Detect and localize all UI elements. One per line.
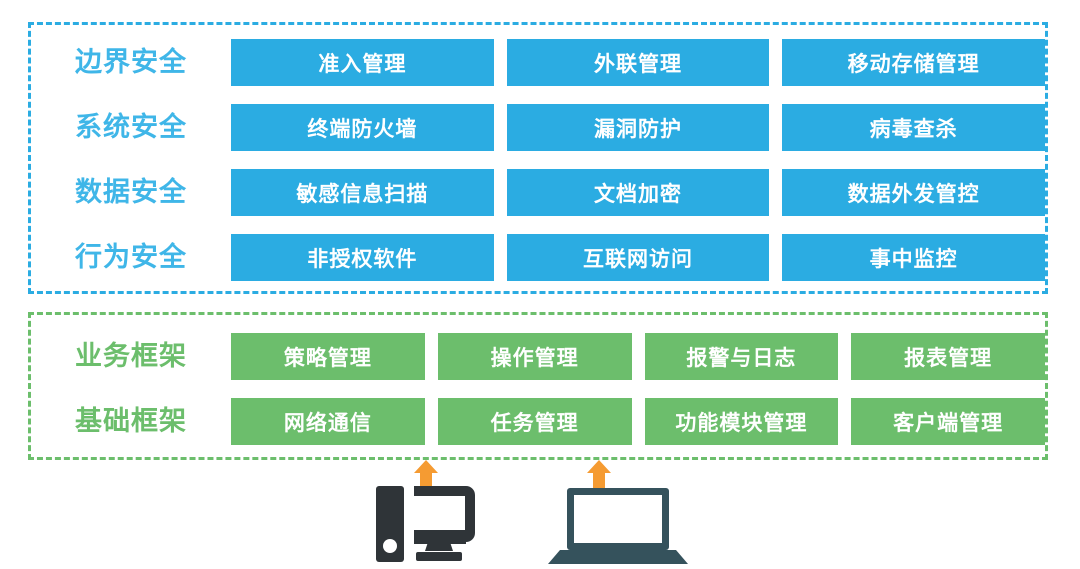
cell-unauthorized-software[interactable]: 非授权软件 bbox=[231, 234, 494, 281]
cell-removable-storage[interactable]: 移动存储管理 bbox=[782, 39, 1045, 86]
laptop-computer-icon bbox=[548, 486, 688, 564]
row-label-system-security: 系统安全 bbox=[31, 104, 231, 151]
row-cells-data-security: 敏感信息扫描 文档加密 数据外发管控 bbox=[231, 169, 1045, 216]
cell-policy-management[interactable]: 策略管理 bbox=[231, 333, 425, 380]
row-label-data-security: 数据安全 bbox=[31, 169, 231, 216]
row-cells-business-framework: 策略管理 操作管理 报警与日志 报表管理 bbox=[231, 333, 1045, 380]
cell-operation-management[interactable]: 操作管理 bbox=[438, 333, 632, 380]
diagram-row-border-security: 边界安全 准入管理 外联管理 移动存储管理 bbox=[31, 39, 1045, 86]
row-label-business-framework: 业务框架 bbox=[31, 333, 231, 380]
cell-internet-access[interactable]: 互联网访问 bbox=[507, 234, 770, 281]
diagram-row-system-security: 系统安全 终端防火墙 漏洞防护 病毒查杀 bbox=[31, 104, 1045, 151]
diagram-row-business-framework: 业务框架 策略管理 操作管理 报警与日志 报表管理 bbox=[31, 333, 1045, 380]
desktop-computer-icon bbox=[372, 484, 502, 564]
framework-panel: 业务框架 策略管理 操作管理 报警与日志 报表管理 基础框架 网络通信 任务管理… bbox=[28, 312, 1048, 460]
row-cells-system-security: 终端防火墙 漏洞防护 病毒查杀 bbox=[231, 104, 1045, 151]
cell-vulnerability-protection[interactable]: 漏洞防护 bbox=[507, 104, 770, 151]
row-cells-border-security: 准入管理 外联管理 移动存储管理 bbox=[231, 39, 1045, 86]
architecture-diagram: 边界安全 准入管理 外联管理 移动存储管理 系统安全 终端防火墙 漏洞防护 病毒… bbox=[0, 0, 1080, 564]
row-cells-behavior-security: 非授权软件 互联网访问 事中监控 bbox=[231, 234, 1045, 281]
cell-access-control[interactable]: 准入管理 bbox=[231, 39, 494, 86]
cell-document-encryption[interactable]: 文档加密 bbox=[507, 169, 770, 216]
endpoint-devices-group bbox=[0, 460, 1080, 564]
security-panel: 边界安全 准入管理 外联管理 移动存储管理 系统安全 终端防火墙 漏洞防护 病毒… bbox=[28, 22, 1048, 294]
row-label-base-framework: 基础框架 bbox=[31, 398, 231, 445]
cell-network-communication[interactable]: 网络通信 bbox=[231, 398, 425, 445]
cell-in-process-monitoring[interactable]: 事中监控 bbox=[782, 234, 1045, 281]
cell-report-management[interactable]: 报表管理 bbox=[851, 333, 1045, 380]
cell-virus-scan[interactable]: 病毒查杀 bbox=[782, 104, 1045, 151]
row-cells-base-framework: 网络通信 任务管理 功能模块管理 客户端管理 bbox=[231, 398, 1045, 445]
cell-client-management[interactable]: 客户端管理 bbox=[851, 398, 1045, 445]
cell-sensitive-info-scan[interactable]: 敏感信息扫描 bbox=[231, 169, 494, 216]
cell-task-management[interactable]: 任务管理 bbox=[438, 398, 632, 445]
cell-function-module-management[interactable]: 功能模块管理 bbox=[645, 398, 839, 445]
row-label-border-security: 边界安全 bbox=[31, 39, 231, 86]
row-label-behavior-security: 行为安全 bbox=[31, 234, 231, 281]
cell-endpoint-firewall[interactable]: 终端防火墙 bbox=[231, 104, 494, 151]
diagram-row-base-framework: 基础框架 网络通信 任务管理 功能模块管理 客户端管理 bbox=[31, 398, 1045, 445]
diagram-row-data-security: 数据安全 敏感信息扫描 文档加密 数据外发管控 bbox=[31, 169, 1045, 216]
cell-data-outbound-control[interactable]: 数据外发管控 bbox=[782, 169, 1045, 216]
cell-external-connection[interactable]: 外联管理 bbox=[507, 39, 770, 86]
cell-alarm-and-log[interactable]: 报警与日志 bbox=[645, 333, 839, 380]
diagram-row-behavior-security: 行为安全 非授权软件 互联网访问 事中监控 bbox=[31, 234, 1045, 281]
